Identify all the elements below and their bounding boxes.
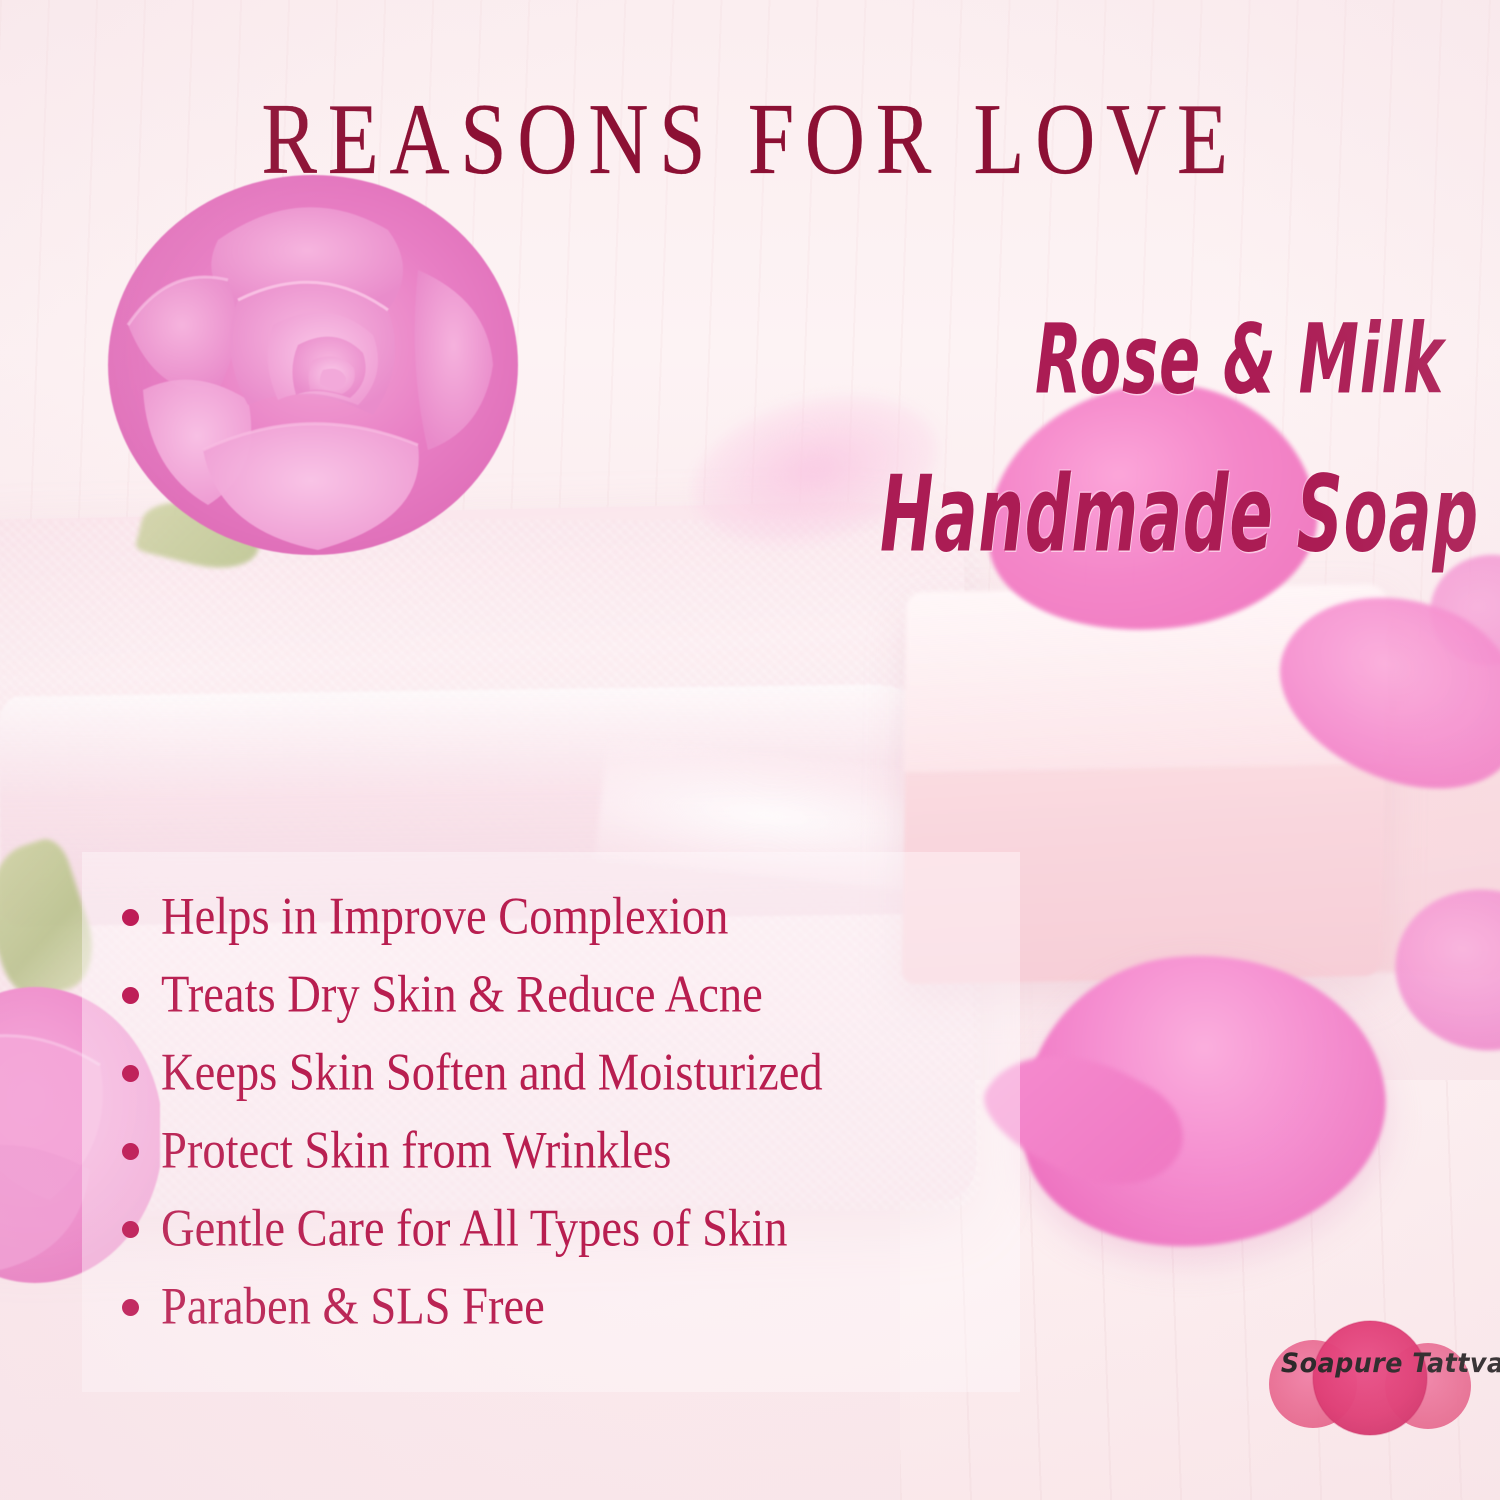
product-name-line-2: Handmade Soap bbox=[880, 462, 1479, 568]
benefit-label: Protect Skin from Wrinkles bbox=[161, 1125, 671, 1178]
list-item: Protect Skin from Wrinkles bbox=[122, 1112, 1022, 1190]
bullet-dot-icon bbox=[122, 909, 139, 926]
list-item: Helps in Improve Complexion bbox=[122, 878, 1022, 956]
rose-flower-photo bbox=[88, 150, 538, 580]
page-title: REASONS FOR LOVE bbox=[23, 88, 1478, 189]
list-item: Treats Dry Skin & Reduce Acne bbox=[122, 956, 1022, 1034]
brand-logo-icon bbox=[1258, 1306, 1478, 1456]
benefit-label: Keeps Skin Soften and Moisturized bbox=[161, 1047, 823, 1100]
benefit-label: Treats Dry Skin & Reduce Acne bbox=[161, 969, 763, 1022]
bullet-dot-icon bbox=[122, 1143, 139, 1160]
bullet-dot-icon bbox=[122, 987, 139, 1004]
bullet-dot-icon bbox=[122, 1065, 139, 1082]
product-name-line-1: Rose & Milk bbox=[1035, 312, 1444, 408]
list-item: Keeps Skin Soften and Moisturized bbox=[122, 1034, 1022, 1112]
product-marketing-poster: REASONS FOR LOVE Rose & Milk Handmade So… bbox=[0, 0, 1500, 1500]
benefit-label: Paraben & SLS Free bbox=[161, 1281, 545, 1334]
benefit-label: Helps in Improve Complexion bbox=[161, 891, 728, 944]
benefits-list: Helps in Improve Complexion Treats Dry S… bbox=[122, 878, 1022, 1346]
benefit-label: Gentle Care for All Types of Skin bbox=[161, 1203, 788, 1256]
bullet-dot-icon bbox=[122, 1299, 139, 1316]
bullet-dot-icon bbox=[122, 1221, 139, 1238]
list-item: Paraben & SLS Free bbox=[122, 1268, 1022, 1346]
list-item: Gentle Care for All Types of Skin bbox=[122, 1190, 1022, 1268]
brand-name: Soapure Tattva bbox=[1281, 1348, 1464, 1379]
